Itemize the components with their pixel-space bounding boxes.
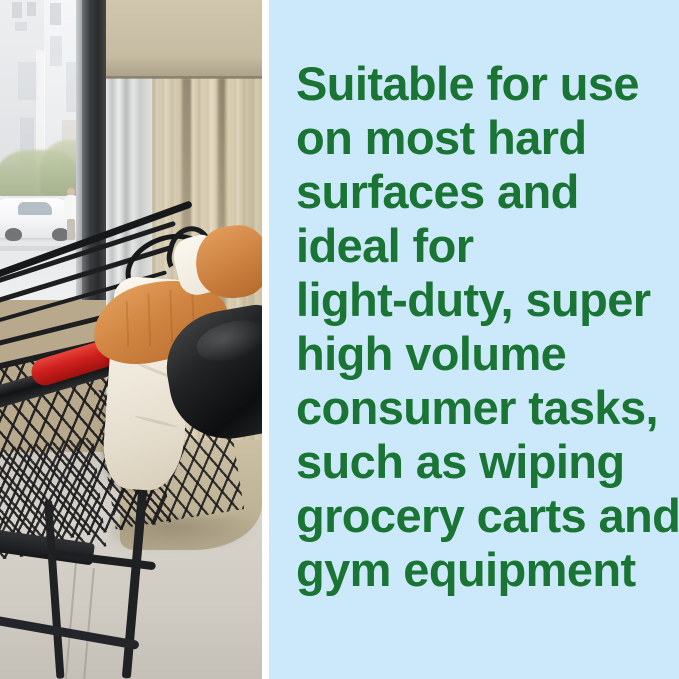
panel-divider: [262, 0, 269, 679]
feature-text-panel: Suitable for use on most hard surfaces a…: [269, 0, 679, 679]
column-cap: [106, 0, 262, 78]
feature-line: light-duty, super: [296, 273, 664, 327]
product-feature-image: Suitable for use on most hard surfaces a…: [0, 0, 679, 679]
feature-line: surfaces and: [296, 165, 664, 219]
feature-line: on most hard: [296, 111, 664, 165]
window-mullion: [82, 0, 108, 300]
feature-line: high volume: [296, 327, 664, 381]
product-use-photo: [0, 0, 262, 679]
feature-line: grocery carts and: [296, 489, 664, 543]
feature-description: Suitable for use on most hard surfaces a…: [296, 57, 664, 597]
feature-line: ideal for: [296, 219, 664, 273]
feature-line: gym equipment: [296, 543, 664, 597]
feature-line: such as wiping: [296, 435, 664, 489]
feature-line: consumer tasks,: [296, 381, 664, 435]
column-cap-seam: [106, 76, 262, 79]
feature-line: Suitable for use: [296, 57, 664, 111]
